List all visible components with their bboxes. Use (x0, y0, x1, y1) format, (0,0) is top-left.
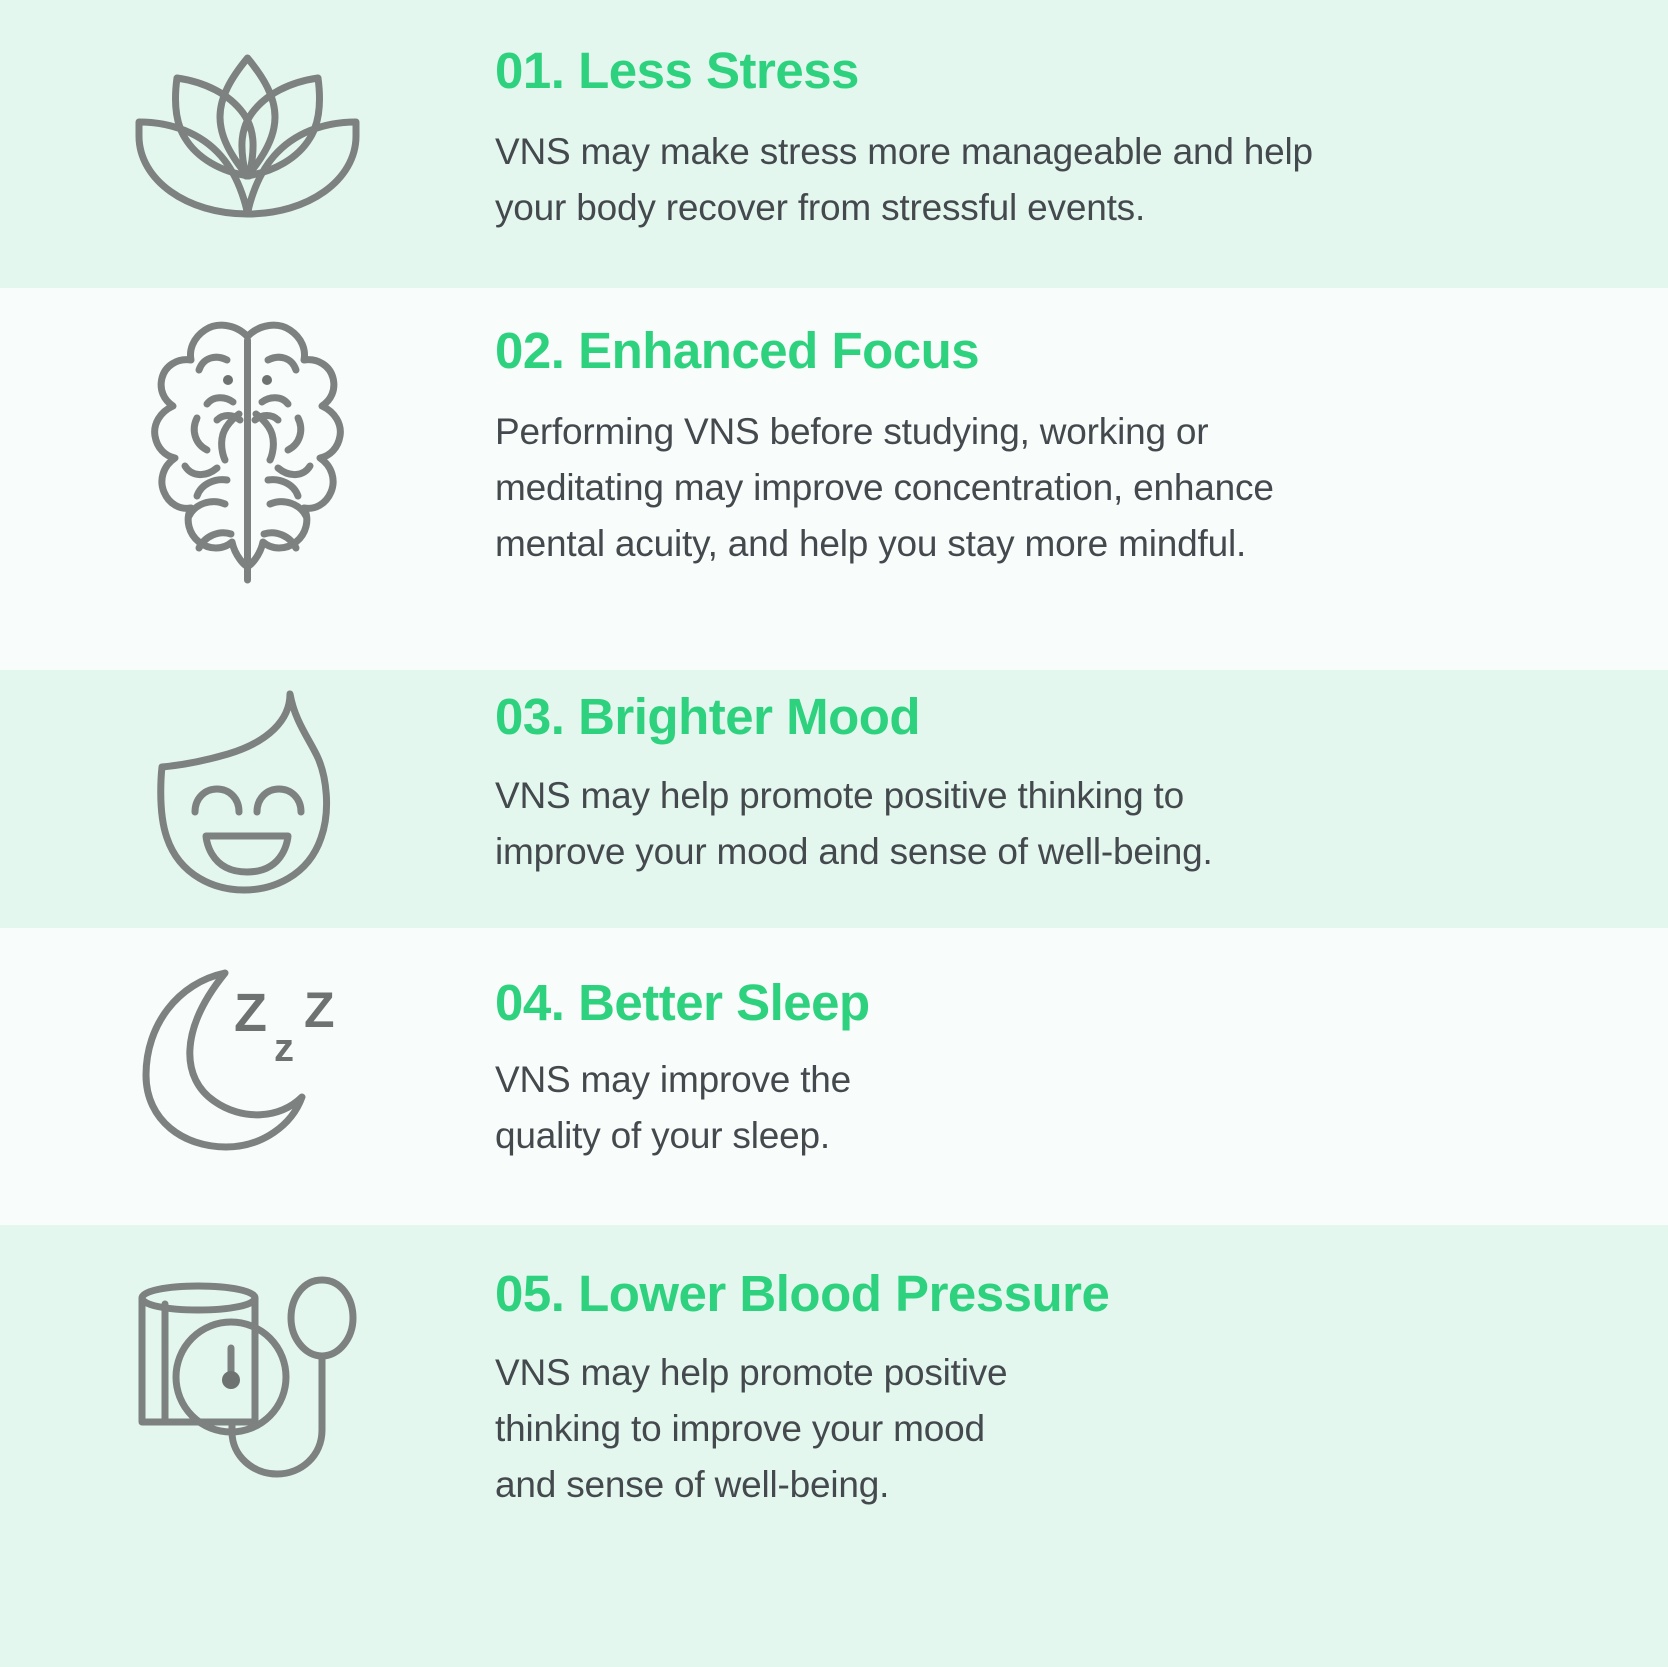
smiling-face-mask-icon (140, 680, 355, 895)
zzz-letter-1: Z (234, 983, 267, 1043)
icon-cell-5 (0, 1225, 495, 1495)
benefit-row-enhanced-focus: 02. Enhanced Focus Performing VNS before… (0, 288, 1668, 670)
icon-cell-2 (0, 288, 495, 593)
benefit-row-less-stress: 01. Less Stress VNS may make stress more… (0, 0, 1668, 288)
benefit-row-brighter-mood: 03. Brighter Mood VNS may help promote p… (0, 670, 1668, 928)
crescent-moon-zzz-icon: Z z Z (130, 953, 365, 1158)
icon-cell-3 (0, 670, 495, 895)
text-cell-1: 01. Less Stress VNS may make stress more… (495, 0, 1668, 236)
benefit-body-3: VNS may help promote positive thinking t… (495, 744, 1608, 880)
benefit-heading-2: 02. Enhanced Focus (495, 288, 1608, 378)
text-cell-3: 03. Brighter Mood VNS may help promote p… (495, 670, 1668, 880)
benefit-body-4: VNS may improve the quality of your slee… (495, 1030, 1608, 1164)
brain-icon (135, 308, 360, 593)
benefit-body-5: VNS may help promote positive thinking t… (495, 1321, 1608, 1514)
zzz-letter-2: z (274, 1026, 294, 1070)
text-cell-5: 05. Lower Blood Pressure VNS may help pr… (495, 1225, 1668, 1513)
benefits-infographic: 01. Less Stress VNS may make stress more… (0, 0, 1668, 1667)
benefit-row-lower-blood-pressure: 05. Lower Blood Pressure VNS may help pr… (0, 1225, 1668, 1667)
benefit-row-better-sleep: Z z Z 04. Better Sleep VNS may improve t… (0, 928, 1668, 1225)
blood-pressure-monitor-icon (125, 1260, 370, 1495)
icon-cell-4: Z z Z (0, 928, 495, 1158)
text-cell-2: 02. Enhanced Focus Performing VNS before… (495, 288, 1668, 572)
icon-cell-1 (0, 0, 495, 230)
benefit-heading-3: 03. Brighter Mood (495, 670, 1608, 744)
lotus-flower-icon (125, 40, 370, 230)
benefit-heading-4: 04. Better Sleep (495, 928, 1608, 1030)
zzz-letter-3: Z (304, 982, 335, 1038)
benefit-heading-1: 01. Less Stress (495, 0, 1608, 98)
benefit-body-2: Performing VNS before studying, working … (495, 378, 1608, 573)
text-cell-4: 04. Better Sleep VNS may improve the qua… (495, 928, 1668, 1164)
benefit-body-1: VNS may make stress more manageable and … (495, 98, 1608, 236)
benefit-heading-5: 05. Lower Blood Pressure (495, 1225, 1608, 1321)
